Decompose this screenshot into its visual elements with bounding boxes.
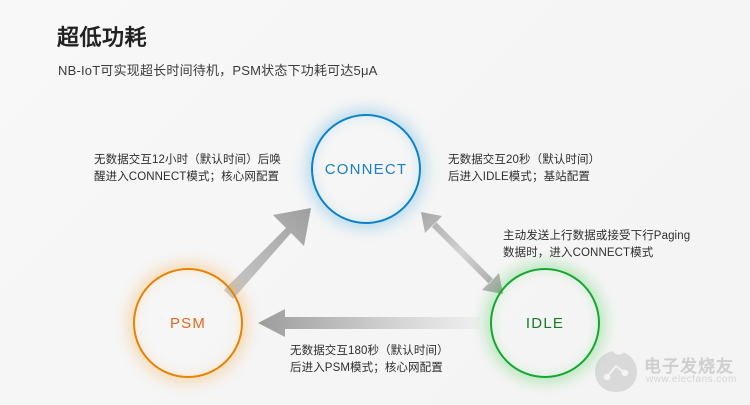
page-title: 超低功耗	[57, 20, 147, 52]
slide-canvas: 超低功耗 NB-IoT可实现超长时间待机，PSM状态下功耗可达5μA	[0, 0, 750, 405]
state-node-connect[interactable]: CONNECT	[311, 114, 421, 224]
annotation-idle-to-connect: 主动发送上行数据或接受下行Paging 数据时，进入CONNECT模式	[503, 228, 690, 262]
arrow-connect-idle	[421, 212, 503, 294]
watermark-url: www.elecfans.com	[646, 374, 737, 385]
page-subtitle: NB-IoT可实现超长时间待机，PSM状态下功耗可达5μA	[58, 60, 378, 79]
annotation-psm-to-connect: 无数据交互12小时（默认时间）后唤 醒进入CONNECT模式；核心网配置	[94, 152, 281, 186]
annotation-idle-to-psm: 无数据交互180秒（默认时间） 后进入PSM模式；核心网配置	[290, 343, 449, 377]
state-node-psm[interactable]: PSM	[133, 268, 243, 378]
state-node-idle[interactable]: IDLE	[490, 268, 600, 378]
state-node-connect-label: CONNECT	[325, 161, 408, 178]
state-node-psm-label: PSM	[170, 315, 206, 332]
arrow-psm-to-connect	[224, 208, 311, 299]
elecfans-logo-icon	[592, 348, 640, 394]
annotation-connect-to-idle: 无数据交互20秒（默认时间） 后进入IDLE模式；基站配置	[448, 152, 600, 186]
arrow-idle-to-psm	[258, 309, 480, 337]
state-node-idle-label: IDLE	[526, 315, 564, 332]
watermark: 电子发烧友 www.elecfans.com	[592, 348, 742, 398]
